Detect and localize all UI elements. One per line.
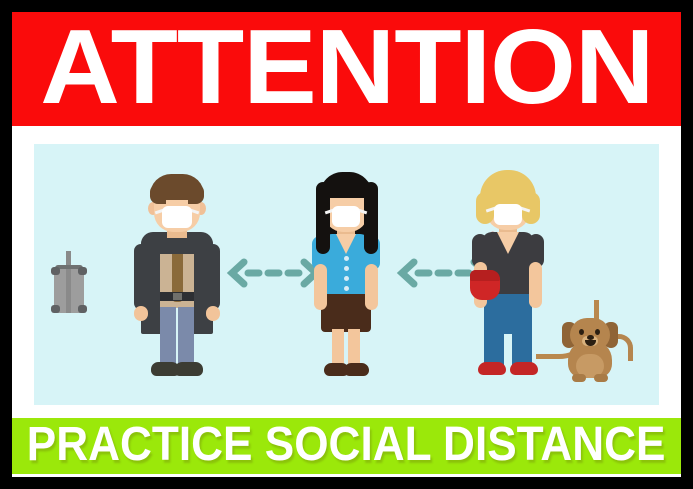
hair-side-right	[188, 184, 204, 204]
suitcase-corner	[78, 267, 87, 275]
blouse-button	[344, 276, 349, 281]
suitcase-corner	[51, 267, 60, 275]
dog-icon	[556, 312, 628, 384]
shoe-left	[478, 362, 506, 375]
figure-businessman	[112, 164, 242, 384]
face-mask-icon	[162, 206, 192, 228]
leg-left	[160, 307, 176, 369]
leg-right	[512, 312, 532, 368]
belt-buckle	[173, 293, 182, 300]
figure-blonde-with-dog	[452, 162, 627, 387]
dog-eye-right	[595, 329, 600, 335]
tagline-text: PRACTICE SOCIAL DISTANCE	[27, 421, 666, 469]
dog-eye-left	[579, 329, 584, 335]
arm-right	[206, 244, 220, 310]
attention-banner: ATTENTION	[12, 12, 681, 126]
shoulder-bag-flap	[470, 270, 500, 281]
skirt	[321, 290, 371, 332]
blouse-button	[344, 266, 349, 271]
dog-nose	[587, 335, 594, 340]
headline-text: ATTENTION	[40, 14, 653, 120]
face-mask-icon	[494, 204, 522, 225]
tagline-banner: PRACTICE SOCIAL DISTANCE	[12, 418, 681, 474]
hair-strand-right	[364, 182, 378, 254]
figure-woman-blue-blouse	[292, 164, 402, 384]
hair-side-left	[150, 184, 166, 204]
social-distance-poster: ATTENTION	[0, 0, 693, 489]
arm-right	[529, 262, 542, 308]
leg-left	[484, 312, 504, 368]
leg-right	[178, 307, 194, 369]
arm-right	[365, 264, 378, 310]
suitcase-wheel	[78, 305, 87, 313]
blouse-button	[344, 256, 349, 261]
suitcase-seam	[66, 269, 71, 313]
illustration-panel	[34, 144, 659, 405]
shoe-right	[510, 362, 538, 375]
arm-left	[314, 264, 327, 310]
blouse-button	[344, 286, 349, 291]
suitcase-wheel	[51, 305, 60, 313]
dog-paw-left	[572, 374, 586, 382]
hair-strand-left	[316, 182, 330, 254]
arm-left	[134, 244, 148, 310]
suitcase-icon	[46, 251, 92, 313]
shoe-right	[344, 363, 369, 376]
hand-right	[206, 306, 220, 321]
dog-paw-right	[594, 374, 608, 382]
shoe-right	[174, 362, 203, 376]
hand-left	[134, 306, 148, 321]
face-mask-icon	[332, 206, 360, 227]
